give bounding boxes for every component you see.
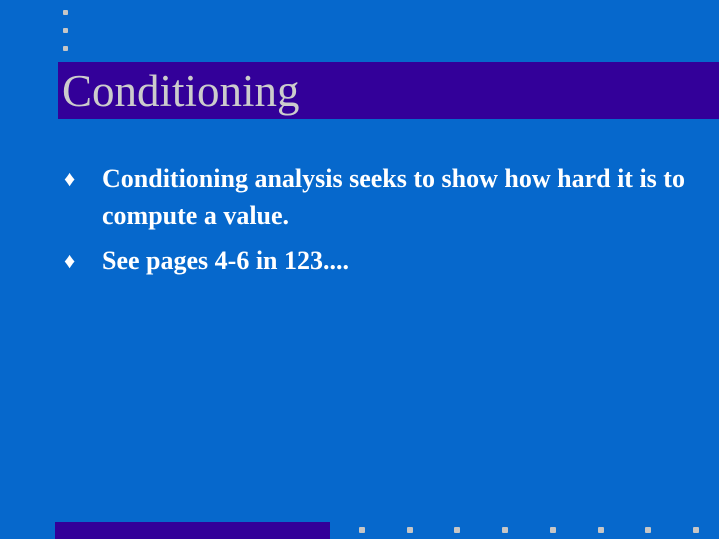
bottom-decoration-dots — [355, 522, 715, 539]
bullet-item: ♦ Conditioning analysis seeks to show ho… — [62, 160, 687, 234]
decoration-dot-icon — [645, 527, 651, 533]
diamond-bullet-icon: ♦ — [64, 160, 88, 197]
bottom-accent-bar — [55, 522, 330, 539]
diamond-bullet-icon: ♦ — [64, 242, 88, 279]
top-decoration-dots — [63, 8, 71, 56]
bullet-text: See pages 4-6 in 123.... — [102, 242, 687, 279]
bullet-text: Conditioning analysis seeks to show how … — [102, 160, 687, 234]
decoration-dot-icon — [359, 527, 365, 533]
decoration-dot-icon — [550, 527, 556, 533]
decoration-dot-icon — [407, 527, 413, 533]
bullet-item: ♦ See pages 4-6 in 123.... — [62, 242, 687, 279]
slide-title: Conditioning — [62, 60, 702, 122]
decoration-dot-icon — [502, 527, 508, 533]
decoration-dot-icon — [454, 527, 460, 533]
decoration-dot-icon — [63, 28, 68, 33]
decoration-dot-icon — [598, 527, 604, 533]
decoration-dot-icon — [693, 527, 699, 533]
decoration-dot-icon — [63, 46, 68, 51]
slide-body: ♦ Conditioning analysis seeks to show ho… — [62, 160, 687, 287]
presentation-slide: Conditioning ♦ Conditioning analysis see… — [0, 0, 719, 539]
decoration-dot-icon — [63, 10, 68, 15]
